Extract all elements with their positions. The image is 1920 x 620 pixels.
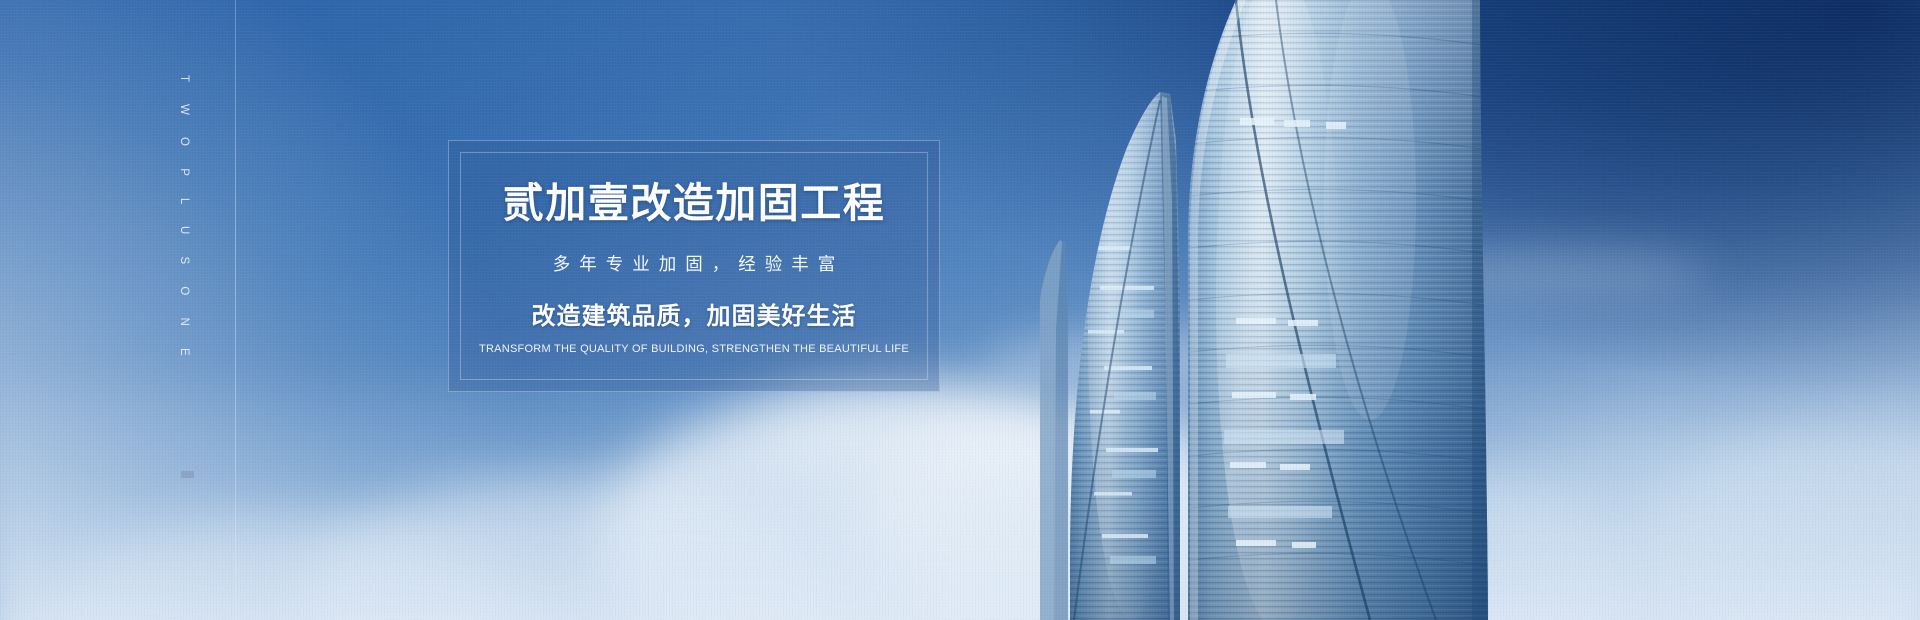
- small-marker: [181, 471, 194, 478]
- hero-english-subtitle: TRANSFORM THE QUALITY OF BUILDING, STREN…: [479, 344, 909, 355]
- vertical-brand-text: T W O P L U S O N E: [178, 75, 190, 365]
- skyscraper-illustration: [1040, 0, 1680, 620]
- left-sail-tower: [1060, 40, 1190, 620]
- background-tower-sliver: [1040, 240, 1068, 620]
- hero-banner: T W O P L U S O N E 贰加壹改造加固工程 多年专业加固，经验丰…: [0, 0, 1920, 620]
- hero-tagline: 改造建筑品质，加固美好生活: [532, 304, 857, 328]
- hero-text-content: 贰加壹改造加固工程 多年专业加固，经验丰富 改造建筑品质，加固美好生活 TRAN…: [449, 141, 939, 391]
- hero-title: 贰加壹改造加固工程: [503, 183, 886, 224]
- vertical-divider-line: [235, 0, 236, 620]
- right-glass-tower: [1180, 0, 1500, 620]
- hero-text-box: 贰加壹改造加固工程 多年专业加固，经验丰富 改造建筑品质，加固美好生活 TRAN…: [448, 140, 940, 392]
- hero-subtitle: 多年专业加固，经验丰富: [544, 257, 845, 275]
